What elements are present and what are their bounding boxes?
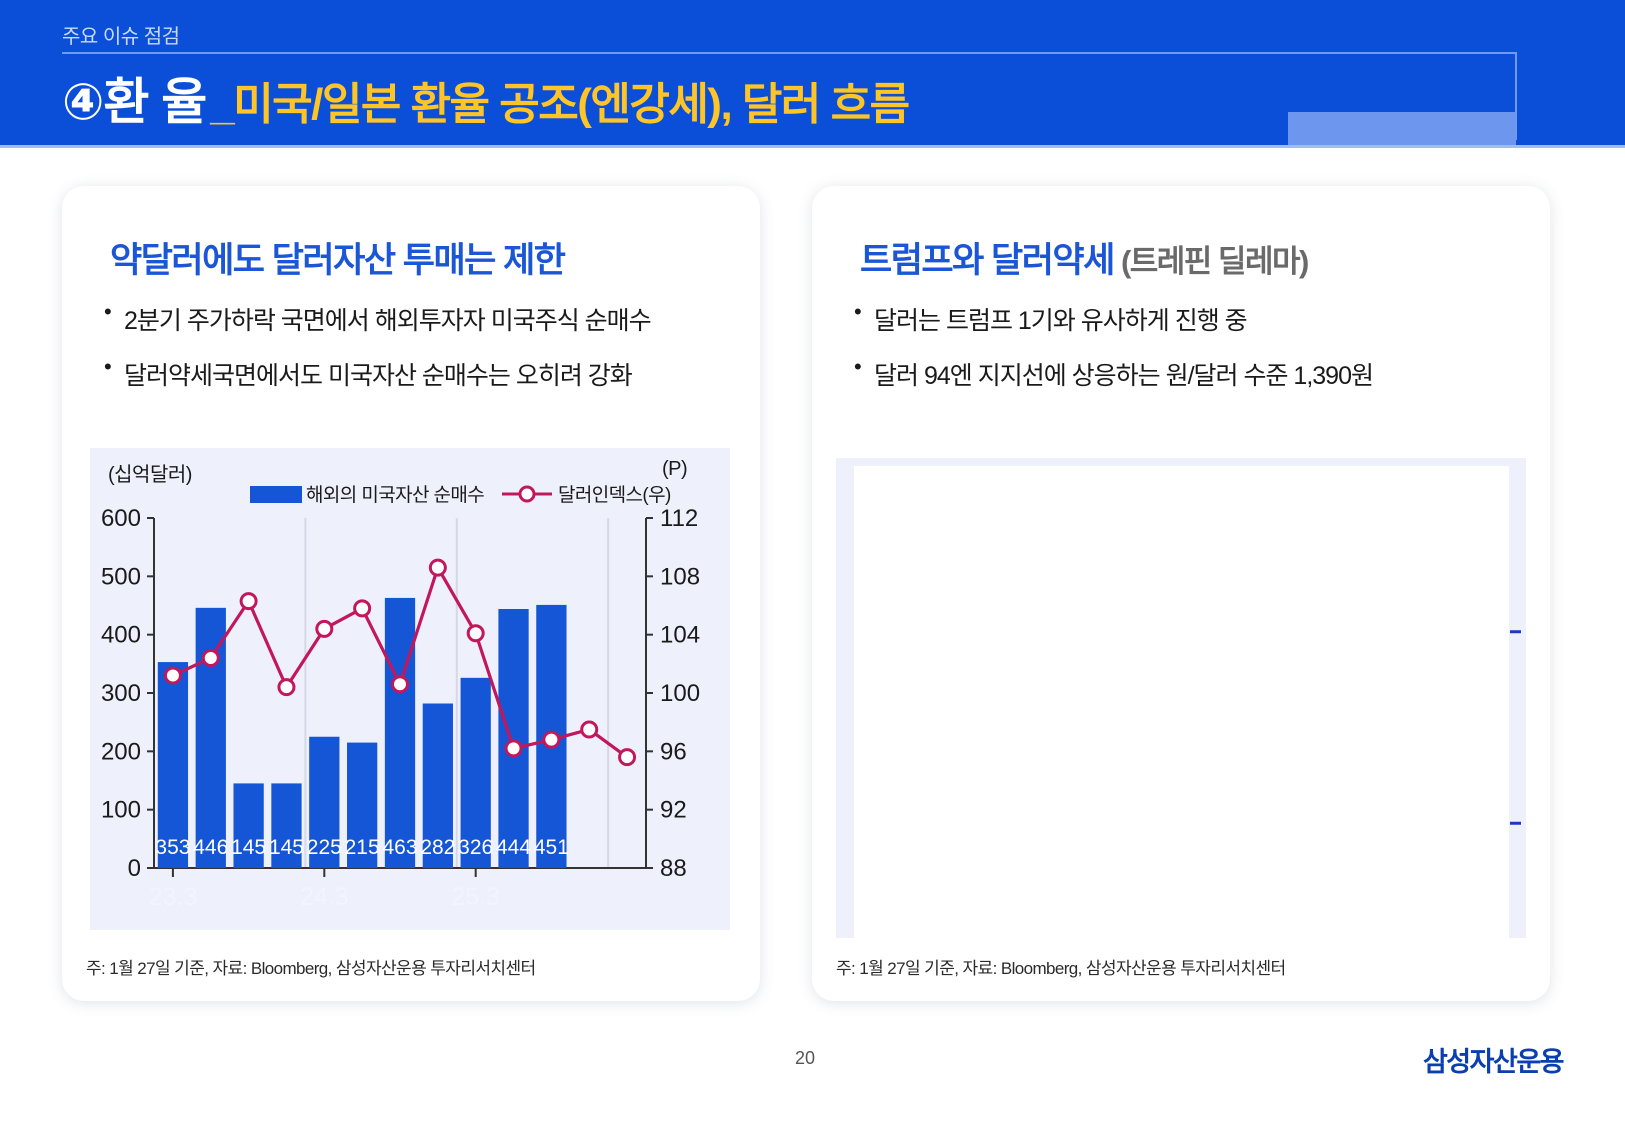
left-card-bullets: 2분기 주가하락 국면에서 해외투자자 미국주식 순매수 달러약세국면에서도 미… xyxy=(102,301,651,411)
chart-right-panel: (트럼프 2기 밴드)트럼프 1기 달러화 추이트럼프 2기1151101051… xyxy=(836,458,1526,938)
svg-text:225: 225 xyxy=(307,836,342,859)
svg-text:300: 300 xyxy=(101,680,141,707)
svg-text:104: 104 xyxy=(660,622,700,649)
right-card-bullets: 달러는 트럼프 1기와 유사하게 진행 중 달러 94엔 지지선에 상응하는 원… xyxy=(852,301,1373,411)
svg-text:112: 112 xyxy=(660,505,698,532)
svg-text:145: 145 xyxy=(269,836,304,859)
left-axis-unit: (십억달러) xyxy=(108,458,192,487)
svg-text:23.3: 23.3 xyxy=(149,883,198,911)
svg-text:해외의 미국자산 순매수: 해외의 미국자산 순매수 xyxy=(306,484,484,506)
chart-right-plot-bg xyxy=(854,466,1509,938)
slide-header: 주요 이슈 점검 ④환 율 _미국/일본 환율 공조(엔강세), 달러 흐름 xyxy=(0,0,1625,147)
header-bottom-line xyxy=(0,145,1625,148)
svg-text:451: 451 xyxy=(534,836,569,859)
right-card-title: 트럼프와 달러약세 (트레핀 딜레마) xyxy=(860,232,1308,283)
right-card-source: 주: 1월 27일 기준, 자료: Bloomberg, 삼성자산운용 투자리서… xyxy=(836,954,1286,979)
svg-text:100: 100 xyxy=(101,797,141,824)
svg-text:353: 353 xyxy=(155,836,190,859)
svg-text:600: 600 xyxy=(101,505,141,532)
svg-text:200: 200 xyxy=(101,738,141,765)
svg-text:100: 100 xyxy=(660,680,700,707)
left-card-title: 약달러에도 달러자산 투매는 제한 xyxy=(110,232,564,283)
left-chart-svg: 해외의 미국자산 순매수달러인덱스(우)60050040030020010001… xyxy=(90,448,730,930)
card-right: 트럼프와 달러약세 (트레핀 딜레마) 달러는 트럼프 1기와 유사하게 진행 … xyxy=(812,186,1550,1001)
page-title: ④환 율 _미국/일본 환율 공조(엔강세), 달러 흐름 xyxy=(62,62,909,134)
list-item: 달러약세국면에서도 미국자산 순매수는 오히려 강화 xyxy=(102,356,651,392)
svg-text:215: 215 xyxy=(345,836,380,859)
svg-text:92: 92 xyxy=(660,797,687,824)
right-axis-unit: (P) xyxy=(662,458,687,481)
page-title-main: ④환 율 xyxy=(62,62,206,134)
header-rule xyxy=(62,52,1517,54)
svg-text:25.3: 25.3 xyxy=(451,883,500,911)
svg-text:96: 96 xyxy=(660,738,687,765)
svg-text:24.3: 24.3 xyxy=(300,883,349,911)
list-item: 달러는 트럼프 1기와 유사하게 진행 중 xyxy=(852,301,1373,337)
svg-text:108: 108 xyxy=(660,563,700,590)
svg-text:500: 500 xyxy=(101,563,141,590)
right-card-title-strong: 트럼프와 달러약세 xyxy=(860,241,1114,280)
chart-left-panel: (십억달러) (P) 해외의 미국자산 순매수달러인덱스(우)600500400… xyxy=(90,448,730,930)
svg-text:0: 0 xyxy=(128,855,141,882)
header-accent-box xyxy=(1288,112,1516,148)
list-item: 2분기 주가하락 국면에서 해외투자자 미국주식 순매수 xyxy=(102,301,651,337)
svg-text:446: 446 xyxy=(193,836,228,859)
page-number: 20 xyxy=(795,1048,815,1069)
svg-text:326: 326 xyxy=(458,836,493,859)
svg-text:463: 463 xyxy=(382,836,417,859)
list-item: 달러 94엔 지지선에 상응하는 원/달러 수준 1,390원 xyxy=(852,356,1373,392)
svg-text:444: 444 xyxy=(496,836,531,859)
left-card-source: 주: 1월 27일 기준, 자료: Bloomberg, 삼성자산운용 투자리서… xyxy=(86,954,536,979)
svg-text:145: 145 xyxy=(231,836,266,859)
header-eyebrow: 주요 이슈 점검 xyxy=(62,20,180,49)
card-left: 약달러에도 달러자산 투매는 제한 2분기 주가하락 국면에서 해외투자자 미국… xyxy=(62,186,760,1001)
svg-text:400: 400 xyxy=(101,622,141,649)
brand-logo: 삼성자산운용 xyxy=(1423,1040,1563,1079)
right-card-title-muted: (트레핀 딜레마) xyxy=(1114,244,1308,279)
page-title-sub: _미국/일본 환율 공조(엔강세), 달러 흐름 xyxy=(210,68,908,132)
svg-text:달러인덱스(우): 달러인덱스(우) xyxy=(558,484,671,506)
svg-text:88: 88 xyxy=(660,855,687,882)
svg-text:282: 282 xyxy=(420,836,455,859)
